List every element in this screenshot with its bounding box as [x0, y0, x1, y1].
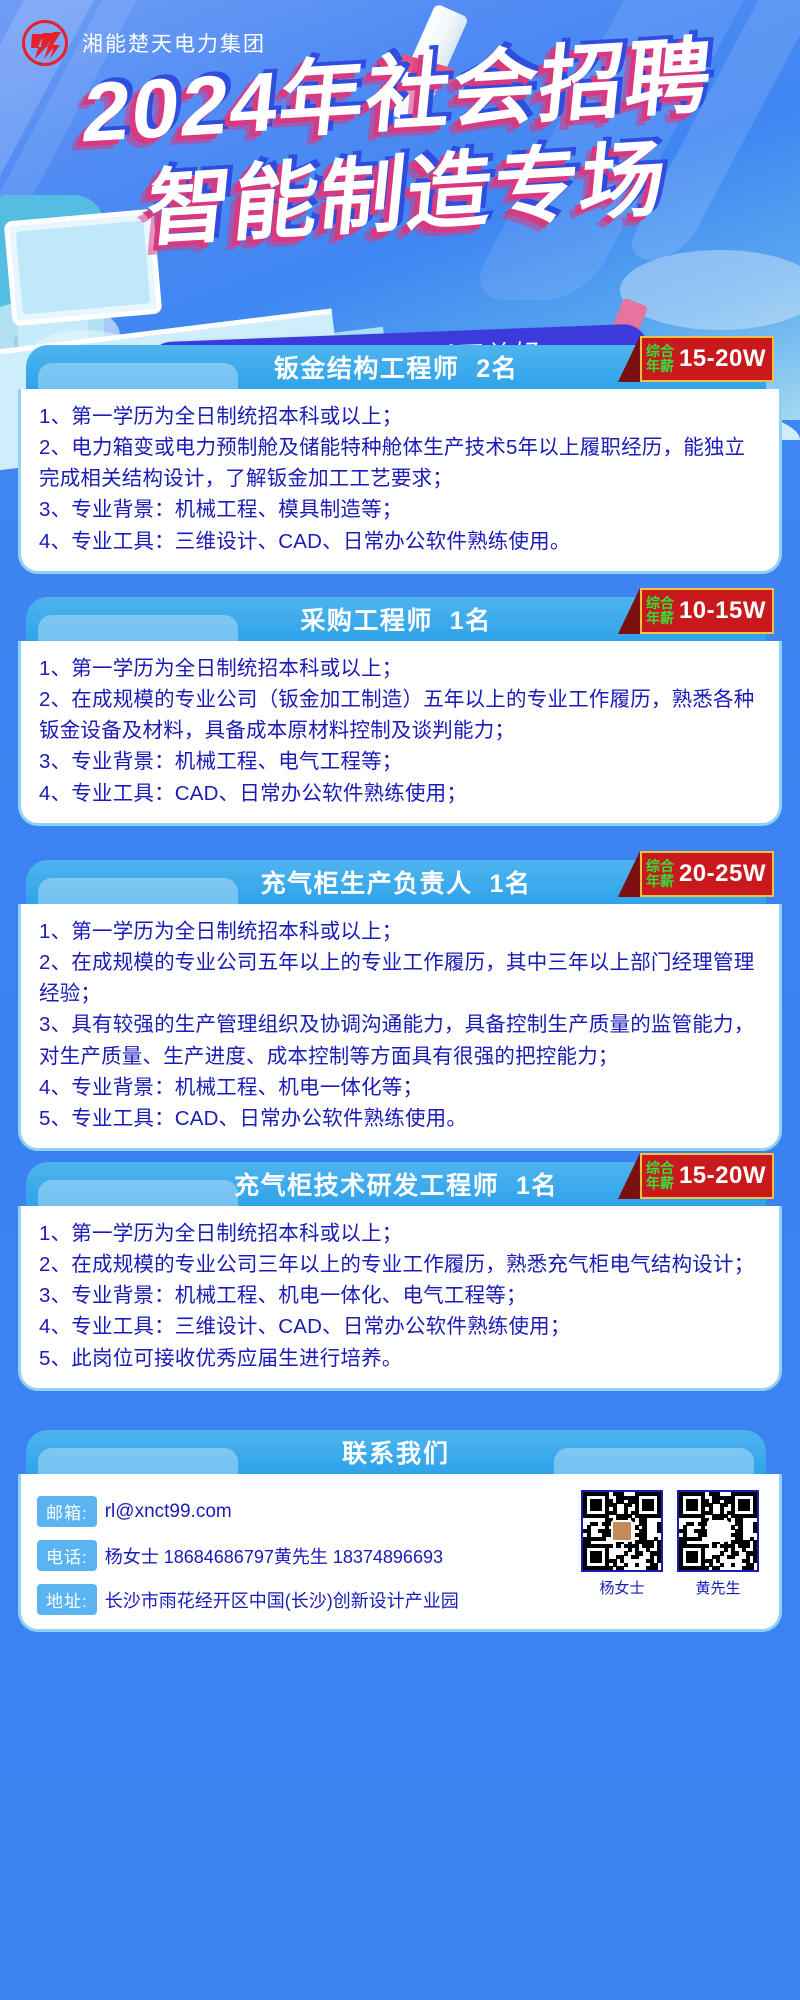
requirement-line: 1、第一学历为全日制统招本科或以上； — [39, 653, 763, 684]
salary-badge: 综合年薪10-15W — [618, 588, 774, 634]
salary-value: 15-20W — [679, 345, 766, 373]
qr-code-image[interactable] — [581, 1490, 663, 1572]
contact-row: 地址:长沙市雨花经开区中国(长沙)创新设计产业园 — [37, 1584, 459, 1615]
badge-label: 综合年薪 — [646, 344, 674, 374]
qr-code-caption: 黄先生 — [695, 1577, 740, 1598]
badge-body: 综合年薪15-20W — [640, 336, 774, 382]
salary-value: 20-25W — [679, 860, 766, 888]
job-requirements: 1、第一学历为全日制统招本科或以上；2、在成规模的专业公司（钣金加工制造）五年以… — [18, 641, 782, 826]
badge-label: 综合年薪 — [646, 859, 674, 889]
cat-avatar-icon — [611, 1520, 633, 1542]
contact-value[interactable]: rl@xnct99.com — [105, 1501, 232, 1523]
requirement-line: 3、专业背景：机械工程、机电一体化、电气工程等； — [39, 1280, 763, 1311]
requirement-line: 2、在成规模的专业公司（钣金加工制造）五年以上的专业工作履历，熟悉各种钣金设备及… — [39, 684, 763, 746]
requirement-line: 4、专业工具：三维设计、CAD、日常办公软件熟练使用。 — [39, 526, 763, 557]
company-name: 湘能楚天电力集团 — [82, 28, 266, 58]
requirement-line: 1、第一学历为全日制统招本科或以上； — [39, 401, 763, 432]
job-card-header: 钣金结构工程师 2名综合年薪15-20W — [26, 345, 766, 389]
contact-card-body: 邮箱:rl@xnct99.com电话:杨女士 18684686797黄先生 18… — [18, 1474, 782, 1632]
requirement-line: 4、专业工具：三维设计、CAD、日常办公软件熟练使用； — [39, 1311, 763, 1342]
job-title: 钣金结构工程师 2名 — [274, 349, 518, 385]
contact-title: 联系我们 — [342, 1434, 450, 1470]
contact-label: 电话: — [37, 1540, 97, 1571]
job-requirements: 1、第一学历为全日制统招本科或以上；2、在成规模的专业公司五年以上的专业工作履历… — [18, 904, 782, 1151]
contact-card: 联系我们邮箱:rl@xnct99.com电话:杨女士 18684686797黄先… — [18, 1430, 782, 1632]
qr-code-image[interactable] — [677, 1490, 759, 1572]
requirement-line: 1、第一学历为全日制统招本科或以上； — [39, 1218, 763, 1249]
qr-code-item: 黄先生 — [677, 1490, 759, 1598]
requirement-line: 4、专业背景：机械工程、机电一体化等； — [39, 1072, 763, 1103]
job-card-header: 充气柜技术研发工程师 1名综合年薪15-20W — [26, 1162, 766, 1206]
badge-body: 综合年薪20-25W — [640, 851, 774, 897]
badge-label: 综合年薪 — [646, 596, 674, 626]
badge-fold-decoration — [618, 588, 640, 634]
job-card-header: 充气柜生产负责人 1名综合年薪20-25W — [26, 860, 766, 904]
job-requirements: 1、第一学历为全日制统招本科或以上；2、在成规模的专业公司三年以上的专业工作履历… — [18, 1206, 782, 1391]
wechat-avatar-icon — [707, 1520, 729, 1542]
requirement-line: 2、在成规模的专业公司三年以上的专业工作履历，熟悉充气柜电气结构设计； — [39, 1249, 763, 1280]
contact-label: 邮箱: — [37, 1496, 97, 1527]
contact-rows: 邮箱:rl@xnct99.com电话:杨女士 18684686797黄先生 18… — [37, 1490, 459, 1615]
badge-body: 综合年薪10-15W — [640, 588, 774, 634]
job-card-header: 采购工程师 1名综合年薪10-15W — [26, 597, 766, 641]
job-card: 充气柜生产负责人 1名综合年薪20-25W1、第一学历为全日制统招本科或以上；2… — [18, 860, 782, 1151]
contact-row: 邮箱:rl@xnct99.com — [37, 1496, 459, 1527]
qr-code-caption: 杨女士 — [599, 1577, 644, 1598]
qr-code-item: 杨女士 — [581, 1490, 663, 1598]
badge-body: 综合年薪15-20W — [640, 1153, 774, 1199]
contact-label: 地址: — [37, 1584, 97, 1615]
badge-fold-decoration — [618, 1153, 640, 1199]
contact-row: 电话:杨女士 18684686797黄先生 18374896693 — [37, 1540, 459, 1571]
requirement-line: 3、专业背景：机械工程、电气工程等； — [39, 746, 763, 777]
requirement-line: 1、第一学历为全日制统招本科或以上； — [39, 916, 763, 947]
job-title: 充气柜生产负责人 1名 — [261, 864, 532, 900]
brand-header: 湘能楚天电力集团 — [22, 20, 266, 66]
requirement-line: 5、此岗位可接收优秀应届生进行培养。 — [39, 1343, 763, 1374]
contact-value: 杨女士 18684686797黄先生 18374896693 — [105, 1543, 443, 1569]
salary-value: 15-20W — [679, 1162, 766, 1190]
salary-value: 10-15W — [679, 597, 766, 625]
requirement-line: 3、专业背景：机械工程、模具制造等； — [39, 494, 763, 525]
requirement-line: 2、电力箱变或电力预制舱及储能特种舱体生产技术5年以上履职经历，能独立完成相关结… — [39, 432, 763, 494]
lightning-logo-icon — [22, 20, 68, 66]
job-requirements: 1、第一学历为全日制统招本科或以上；2、电力箱变或电力预制舱及储能特种舱体生产技… — [18, 389, 782, 574]
job-title: 充气柜技术研发工程师 1名 — [234, 1166, 558, 1202]
contact-card-header: 联系我们 — [26, 1430, 766, 1474]
hero-title: 2024年社会招聘 智能制造专场 — [0, 52, 800, 236]
badge-label: 综合年薪 — [646, 1161, 674, 1191]
salary-badge: 综合年薪15-20W — [618, 336, 774, 382]
requirement-line: 4、专业工具：CAD、日常办公软件熟练使用； — [39, 778, 763, 809]
qr-code-group: 杨女士黄先生 — [581, 1490, 765, 1598]
badge-fold-decoration — [618, 336, 640, 382]
job-title: 采购工程师 1名 — [300, 601, 491, 637]
salary-badge: 综合年薪15-20W — [618, 1153, 774, 1199]
salary-badge: 综合年薪20-25W — [618, 851, 774, 897]
job-card: 采购工程师 1名综合年薪10-15W1、第一学历为全日制统招本科或以上；2、在成… — [18, 597, 782, 826]
contact-value: 长沙市雨花经开区中国(长沙)创新设计产业园 — [105, 1587, 459, 1613]
badge-fold-decoration — [618, 851, 640, 897]
job-card: 钣金结构工程师 2名综合年薪15-20W1、第一学历为全日制统招本科或以上；2、… — [18, 345, 782, 574]
requirement-line: 2、在成规模的专业公司五年以上的专业工作履历，其中三年以上部门经理管理经验； — [39, 947, 763, 1009]
requirement-line: 5、专业工具：CAD、日常办公软件熟练使用。 — [39, 1103, 763, 1134]
job-card: 充气柜技术研发工程师 1名综合年薪15-20W1、第一学历为全日制统招本科或以上… — [18, 1162, 782, 1391]
requirement-line: 3、具有较强的生产管理组织及协调沟通能力，具备控制生产质量的监管能力，对生产质量… — [39, 1009, 763, 1071]
